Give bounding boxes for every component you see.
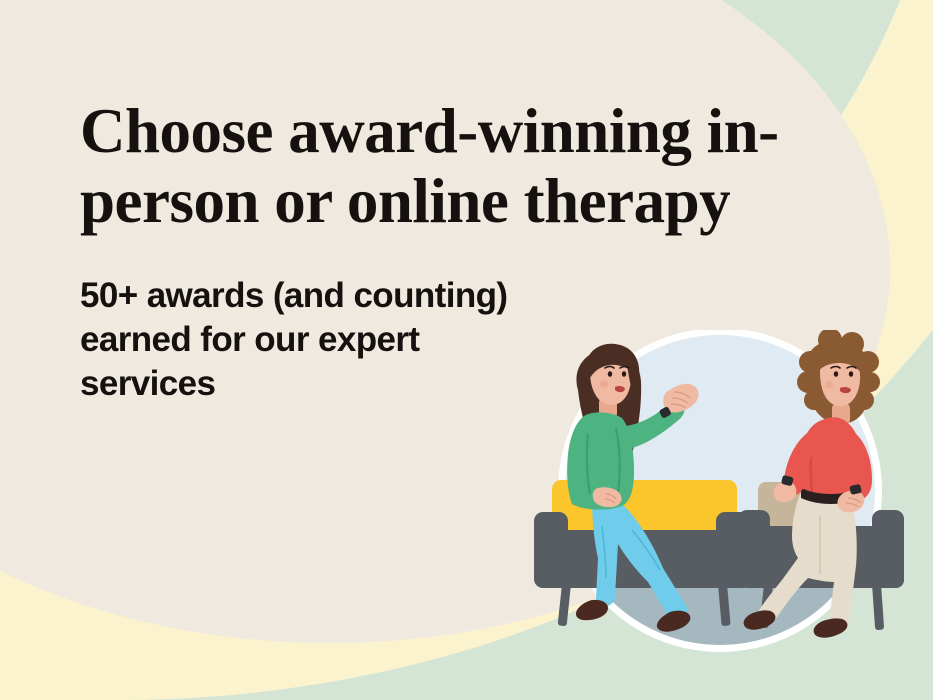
text-block: Choose award-winning in-person or online… [80,96,780,406]
therapist-hair-curl-7 [860,372,880,392]
client-shoe-left [576,600,608,620]
therapist-cheek-blush [825,381,833,389]
sofa-left-arm [534,512,568,588]
armchair-right-arm [872,510,904,588]
armchair-left-arm [738,510,770,588]
armchair-leg-right [872,584,884,631]
therapist-hair-curl-2 [797,371,819,393]
therapist-eye-right [849,371,853,377]
page-title: Choose award-winning in-person or online… [80,96,780,236]
promo-banner: Choose award-winning in-person or online… [0,0,933,700]
therapist-hair-curl-3 [804,390,824,410]
therapist-shoe-right [814,618,848,637]
page-subtitle: 50+ awards (and counting) earned for our… [80,274,550,406]
therapist-eye-left [834,371,838,377]
sofa-leg-left [558,584,571,627]
